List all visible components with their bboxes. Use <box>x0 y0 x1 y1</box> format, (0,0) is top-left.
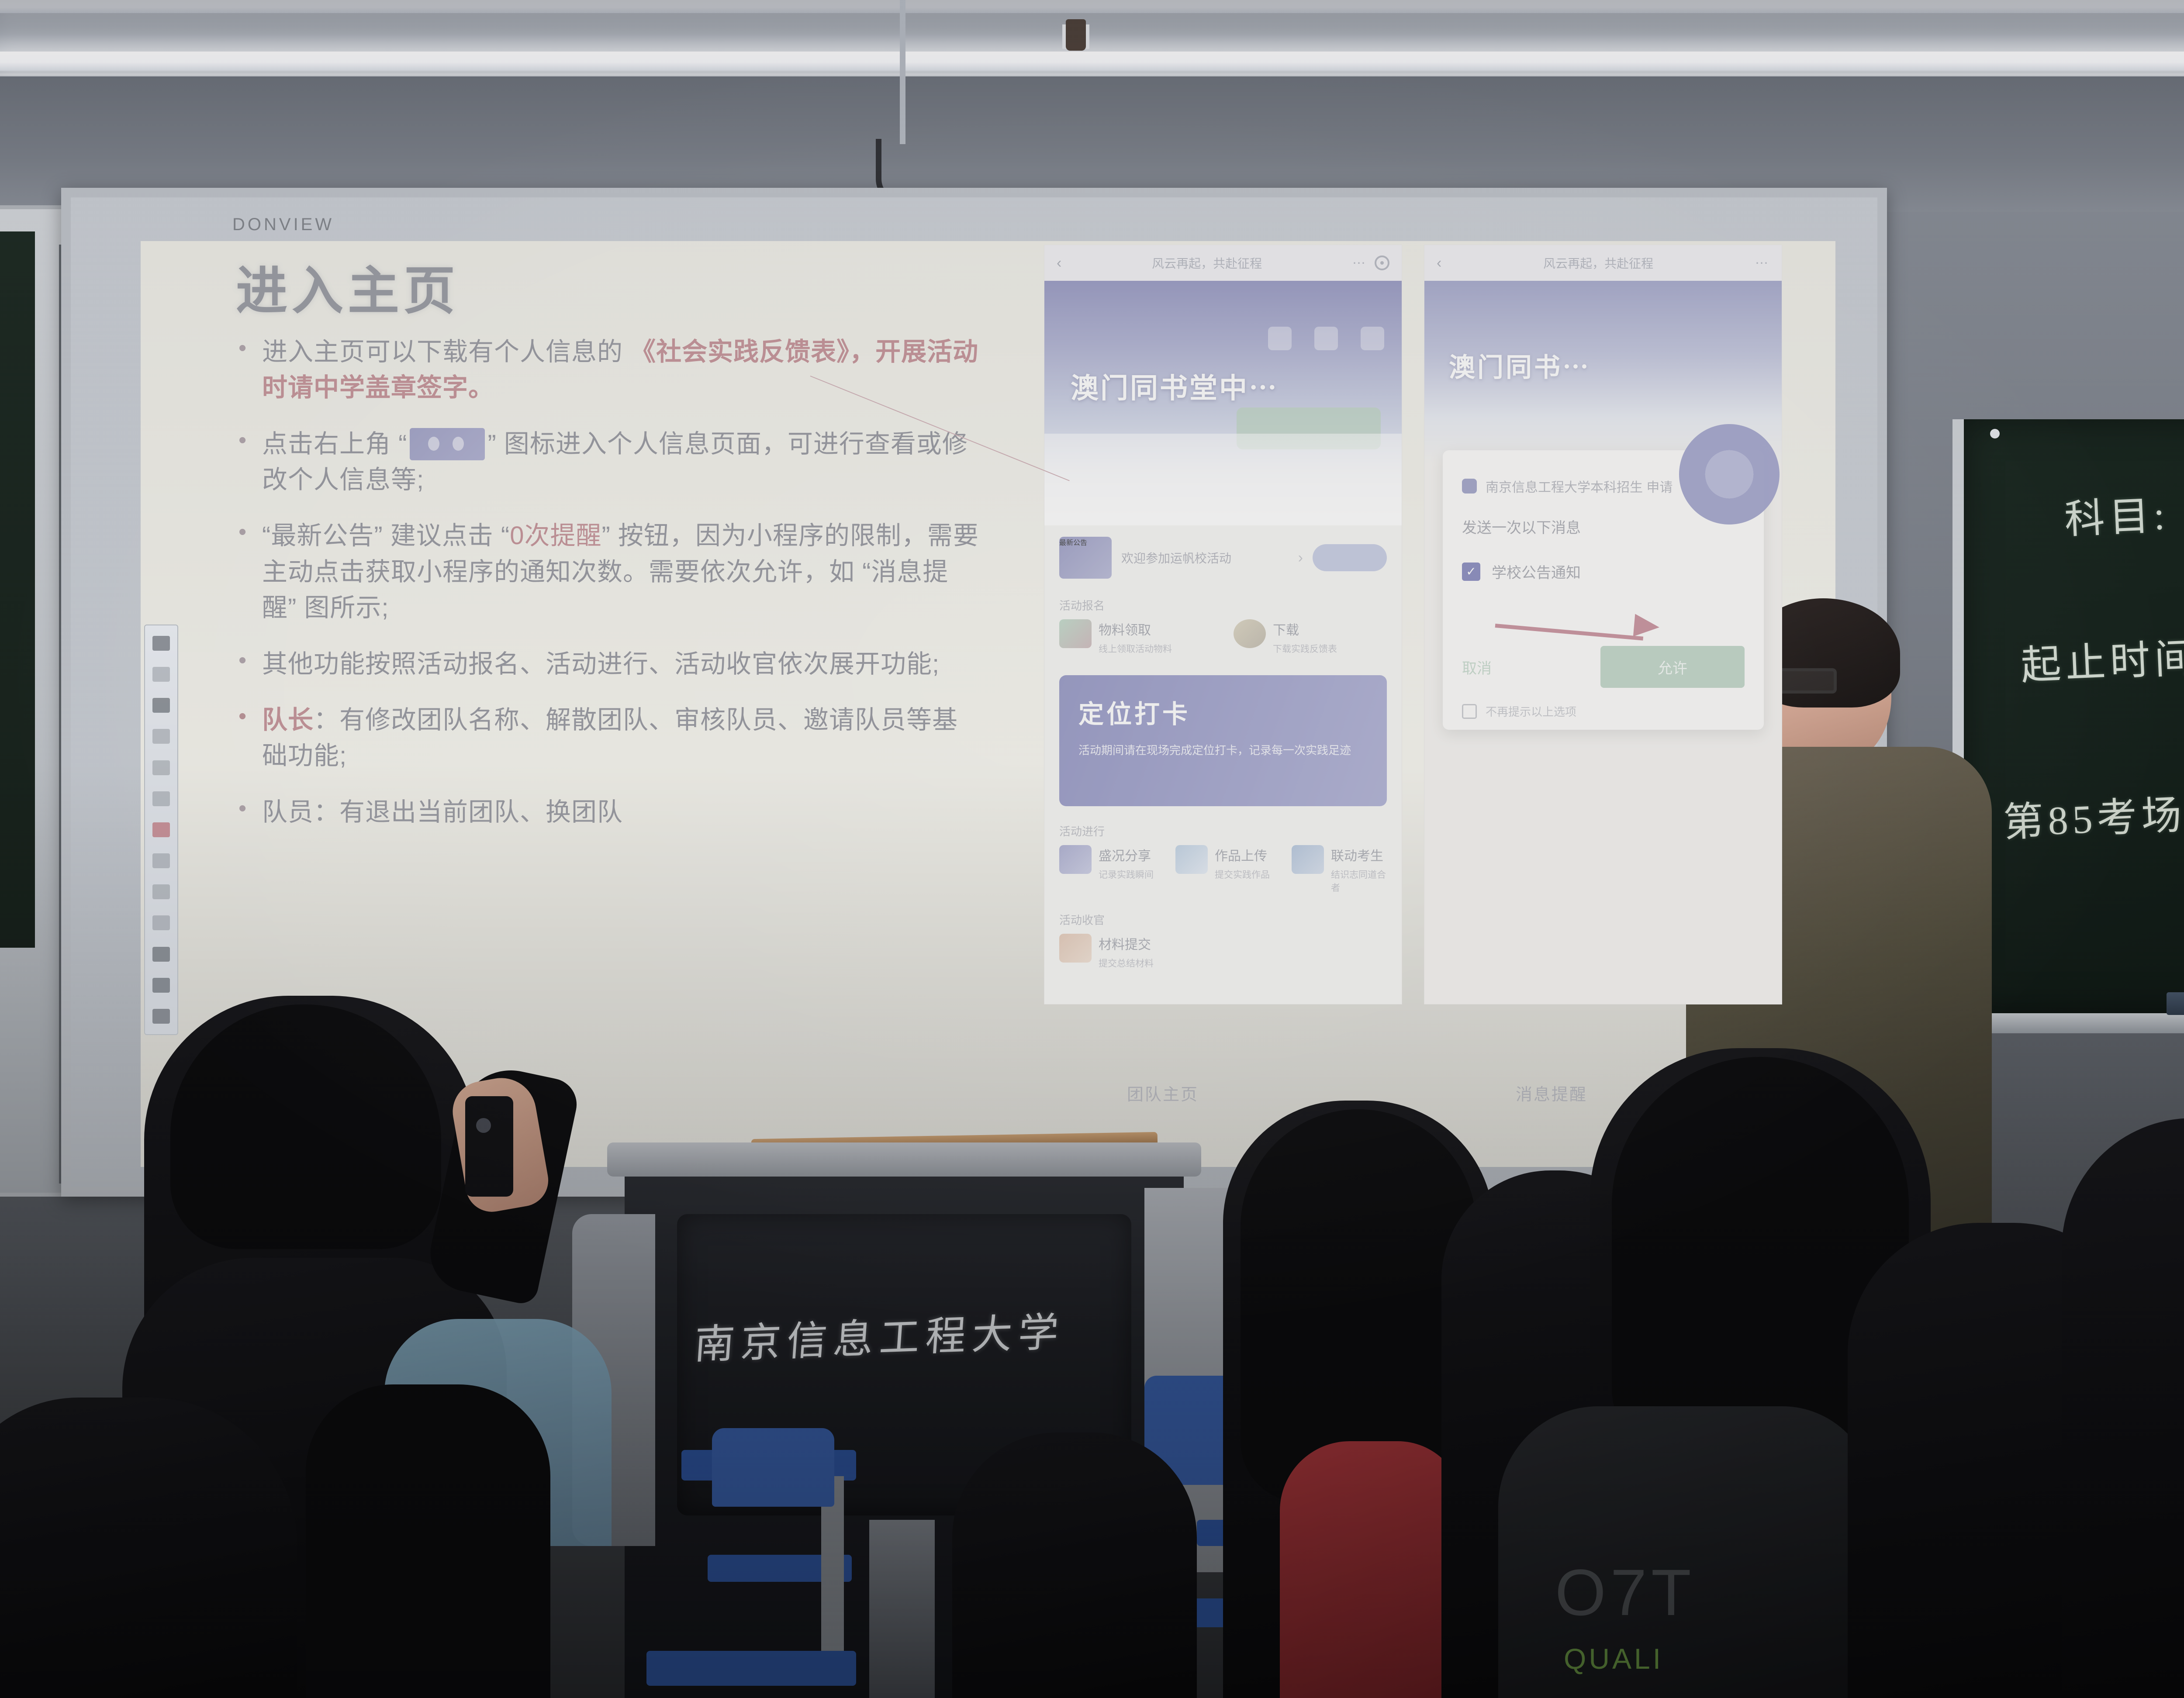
dialog-footer-row[interactable]: 不再提示以上选项 <box>1462 703 1576 719</box>
cell-subtitle: 提交实践作品 <box>1215 868 1270 881</box>
arrow-head <box>1633 614 1660 639</box>
ceiling-seam <box>0 73 2184 76</box>
bullet-text-lead: “最新公告” 建议点击 “ <box>262 521 510 550</box>
material-icon <box>1059 619 1092 648</box>
hero-badge-group <box>1268 327 1384 350</box>
phone-a-title: 风云再起，共赴征程 <box>1069 254 1344 272</box>
phone-mockup-message-permission: ‹ 风云再起，共赴征程 ⋯ 澳门同书⋯ 南京信息工程大学本科招生 申请 发送一次… <box>1424 245 1782 1004</box>
cell-title: 联动考生 <box>1331 845 1387 864</box>
sprinkler-icon <box>1066 19 1086 51</box>
eraser-icon[interactable] <box>152 729 170 744</box>
pointer-icon[interactable] <box>152 853 170 868</box>
dialog-button-row: 取消 允许 <box>1443 646 1764 688</box>
cell-subtitle: 线上领取活动物料 <box>1099 642 1172 655</box>
board-eraser <box>2167 992 2184 1015</box>
phone-camera-lens <box>476 1118 491 1133</box>
phone-a-statusbar: ‹ 风云再起，共赴征程 ⋯ <box>1044 245 1402 281</box>
caption-message-reminder: 消息提醒 <box>1516 1081 1587 1105</box>
bullet-captain: 队长：有修改团队名称、解散团队、审核队员、邀请队员等基础功能; <box>232 702 983 774</box>
arrow-shaft <box>1495 624 1643 641</box>
phone-b-hero-title: 澳门同书⋯ <box>1449 346 1591 384</box>
punch-subtitle: 活动期间请在现场完成定位打卡，记录每一次实践足迹 <box>1078 741 1368 760</box>
punch-title: 定位打卡 <box>1078 694 1368 730</box>
more-icon[interactable] <box>152 1009 170 1024</box>
hoodie-graphic-top: O7T <box>1555 1555 1696 1630</box>
hero-badge-icon <box>1361 327 1384 350</box>
compass-badge-icon <box>1679 424 1780 525</box>
permission-dialog: 南京信息工程大学本科招生 申请 发送一次以下消息 ✓ 学校公告通知 取消 允许 <box>1443 450 1764 730</box>
lectern-top-surface <box>607 1142 1201 1177</box>
grid-cell-submit[interactable]: 材料提交 提交总结材料 <box>1059 934 1387 970</box>
caption-team-home: 团队主页 <box>1127 1081 1199 1105</box>
smartphone-held <box>465 1096 513 1197</box>
arrow-right-icon <box>1495 614 1679 636</box>
connect-icon <box>1292 845 1324 874</box>
dialog-option-label: 学校公告通知 <box>1492 561 1581 582</box>
bullet-text-emphasis: 0次提醒 <box>510 521 601 550</box>
check-icon[interactable]: ✓ <box>1462 563 1480 581</box>
section-label-progress: 活动进行 <box>1044 816 1402 841</box>
dialog-app-name: 南京信息工程大学本科招生 申请 <box>1486 476 1673 496</box>
slide-title: 进入主页 <box>236 249 460 324</box>
student-silhouette <box>0 1398 297 1698</box>
whiteboard-brand-label: DONVIEW <box>232 215 334 235</box>
cell-title: 材料提交 <box>1099 934 1154 953</box>
cell-title: 下载 <box>1273 619 1337 638</box>
pen-icon[interactable] <box>152 667 170 682</box>
help-icon[interactable] <box>152 978 170 993</box>
ceiling-light-far <box>0 0 2184 13</box>
hero-badge-icon <box>1314 327 1338 350</box>
grid-cell-download[interactable]: 下载 下载实践反馈表 <box>1234 619 1387 655</box>
bullet-download-form: 进入主页可以下载有个人信息的 《社会实践反馈表》，开展活动时请中学盖章签字。 <box>232 334 983 406</box>
bullet-notice: “最新公告” 建议点击 “0次提醒” 按钮，因为小程序的限制，需要主动点击获取小… <box>232 518 983 626</box>
phone-a-hero-banner: 澳门同书堂中⋯ <box>1044 281 1402 525</box>
upload-icon <box>1175 845 1208 874</box>
notice-reminder-button[interactable] <box>1313 544 1387 571</box>
dialog-footer-label: 不再提示以上选项 <box>1486 703 1576 719</box>
chair-back <box>712 1428 834 1507</box>
location-checkin-banner[interactable]: 定位打卡 活动期间请在现场完成定位打卡，记录每一次实践足迹 <box>1059 675 1387 806</box>
dialog-option-row[interactable]: ✓ 学校公告通知 <box>1443 537 1764 582</box>
more-dots-icon[interactable]: ⋯ <box>1352 255 1367 271</box>
highlighter-icon[interactable] <box>152 698 170 713</box>
latest-notice-row[interactable]: 最新公告 欢迎参加运帆校活动 › <box>1044 525 1402 590</box>
phone-mockup-team-home: ‹ 风云再起，共赴征程 ⋯ 澳门同书堂中⋯ 最新公告 欢迎参加运帆校活动 › <box>1044 245 1402 1004</box>
function-grid-row-3: 材料提交 提交总结材料 <box>1044 929 1402 980</box>
download-icon <box>1234 619 1266 648</box>
dot-icon[interactable] <box>152 915 170 930</box>
section-label-signup: 活动报名 <box>1044 590 1402 615</box>
redo-icon[interactable] <box>152 791 170 806</box>
hoodie-graphic-bottom: QUALI <box>1564 1642 1663 1675</box>
palette-icon[interactable] <box>152 947 170 962</box>
chevron-right-icon[interactable]: › <box>1298 549 1303 566</box>
menu-icon[interactable] <box>152 636 170 651</box>
select-icon[interactable] <box>152 884 170 899</box>
grid-cell-share[interactable]: 盛况分享 记录实践瞬间 <box>1059 845 1154 894</box>
function-grid-row: 物料领取 线上领取活动物料 下载 下载实践反馈表 <box>1044 615 1402 666</box>
lectern-leg <box>869 1520 935 1698</box>
bullet-text-lead: 其他功能按照活动报名、活动进行、活动收官依次展开功能; <box>262 650 940 678</box>
hero-skyline-art <box>1044 434 1402 525</box>
student-silhouette <box>2062 1118 2184 1698</box>
chevron-left-icon[interactable]: ‹ <box>1057 255 1061 272</box>
mic-cable <box>900 0 905 144</box>
hero-badge-icon <box>1268 327 1292 350</box>
phone-a-hero-title: 澳门同书堂中⋯ <box>1071 366 1279 406</box>
bullet-profile-icon: 点击右上角 “” 图标进入个人信息页面，可进行查看或修改个人信息等; <box>232 426 983 498</box>
bullet-text-lead: 进入主页可以下载有个人信息的 <box>262 338 630 366</box>
cell-title: 作品上传 <box>1215 845 1270 864</box>
profile-avatar-icon <box>410 428 485 460</box>
bullet-member: 队员：有退出当前团队、换团队 <box>232 794 983 830</box>
submit-icon <box>1059 934 1092 963</box>
left-chalkboard-panel <box>0 231 35 948</box>
unchecked-box-icon[interactable] <box>1462 704 1477 719</box>
cell-subtitle: 记录实践瞬间 <box>1099 868 1154 881</box>
student-red-jacket <box>1280 1441 1463 1698</box>
desk <box>646 1651 856 1686</box>
ceiling-light-strip <box>0 52 2184 71</box>
allow-button[interactable]: 允许 <box>1600 646 1745 688</box>
notice-text: 欢迎参加运帆校活动 <box>1121 549 1289 566</box>
section-label-closing: 活动收官 <box>1044 904 1402 929</box>
bullet-text-lead: 点击右上角 “ <box>262 430 407 458</box>
grid-cell-upload[interactable]: 作品上传 提交实践作品 <box>1175 845 1271 894</box>
grid-cell-connect[interactable]: 联动考生 结识志同道合者 <box>1292 845 1387 894</box>
classroom-photo: DONVIEW 进入主页 进入主页可以下载有个人信息的 《社会实践反馈表》，开展… <box>0 0 2184 1698</box>
chalk-line-room: 第85考场 <box>2002 782 2184 848</box>
phone-b-statusbar: ‹ 风云再起，共赴征程 ⋯ <box>1424 245 1782 281</box>
student-silhouette <box>306 1384 550 1698</box>
cell-subtitle: 下载实践反馈表 <box>1273 642 1337 655</box>
student-silhouette <box>952 1432 1197 1698</box>
board-pin <box>1990 429 2000 438</box>
target-icon[interactable] <box>1375 255 1389 270</box>
bullet-text-lead: 队员：有退出当前团队、换团队 <box>262 798 623 826</box>
cell-subtitle: 结识志同道合者 <box>1331 868 1387 894</box>
cell-title: 盛况分享 <box>1099 845 1154 864</box>
bullet-text-tail: ：有修改团队名称、解散团队、审核队员、邀请队员等基础功能; <box>262 706 958 770</box>
app-icon <box>1462 479 1477 494</box>
share-icon <box>1059 845 1092 874</box>
phone-b-title: 风云再起，共赴征程 <box>1449 254 1747 272</box>
presentation-slide: 进入主页 进入主页可以下载有个人信息的 《社会实践反馈表》，开展活动时请中学盖章… <box>201 245 1778 1101</box>
grid-cell-material[interactable]: 物料领取 线上领取活动物料 <box>1059 619 1213 655</box>
cancel-button[interactable]: 取消 <box>1462 656 1492 678</box>
cell-title: 物料领取 <box>1099 619 1172 638</box>
shape-icon[interactable] <box>152 822 170 837</box>
cell-subtitle: 提交总结材料 <box>1099 956 1154 970</box>
function-grid-row-2: 盛况分享 记录实践瞬间 作品上传 提交实践作品 联动考生 结识志同道合者 <box>1044 841 1402 904</box>
undo-icon[interactable] <box>152 760 170 775</box>
bullet-other-functions: 其他功能按照活动报名、活动进行、活动收官依次展开功能; <box>232 646 983 682</box>
notice-tag-label: 最新公告 <box>1059 537 1112 579</box>
bullet-role-label: 队长 <box>262 706 314 734</box>
chevron-left-icon[interactable]: ‹ <box>1437 255 1441 272</box>
slide-bullet-list: 进入主页可以下载有个人信息的 《社会实践反馈表》，开展活动时请中学盖章签字。 点… <box>232 334 983 850</box>
student-hoodie <box>1498 1406 1874 1698</box>
chalk-line-time: 起止时间: <box>2019 625 2184 691</box>
whiteboard-toolbar[interactable] <box>144 625 178 1035</box>
more-dots-icon[interactable]: ⋯ <box>1755 255 1769 271</box>
chalk-line-subject: 科目: <box>2063 483 2170 545</box>
